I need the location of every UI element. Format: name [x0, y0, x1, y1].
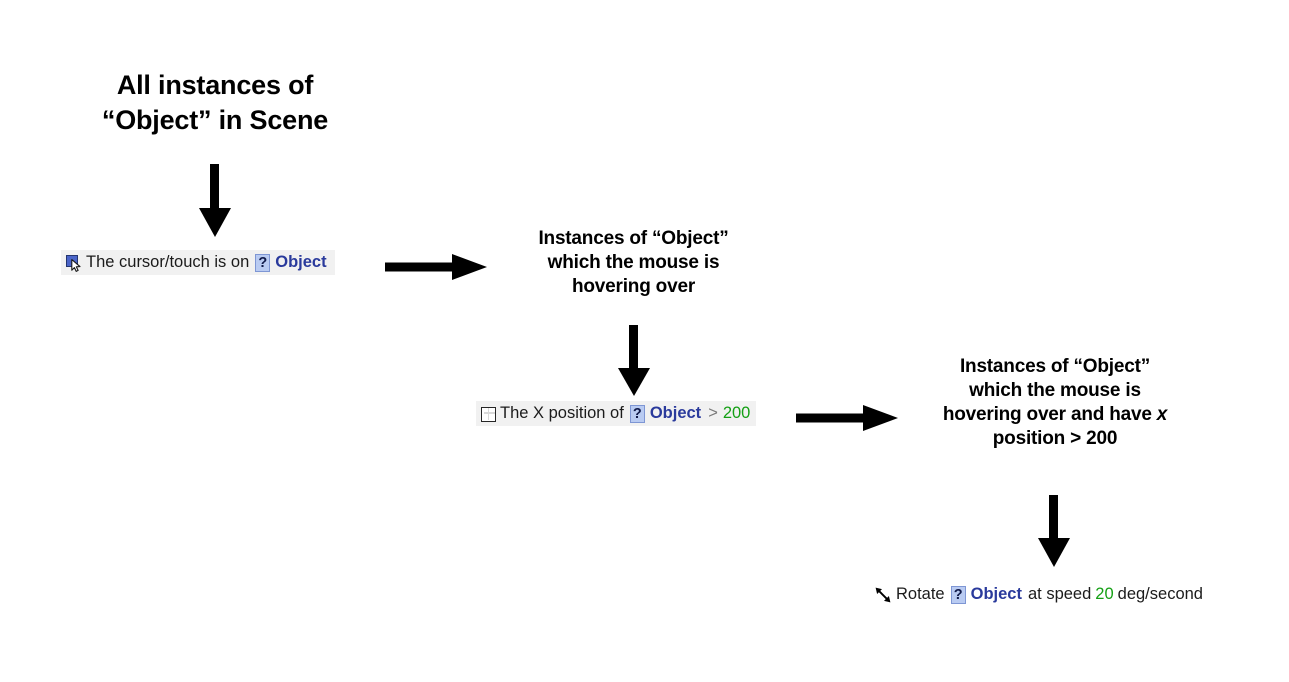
param-badge-question-2: ?: [630, 405, 645, 423]
annotation-line-1: Instances of “Object”: [960, 356, 1150, 377]
param-name-object-2: Object: [650, 404, 701, 423]
annotation-hovered-and-x-instances: Instances of “Object” which the mouse is…: [930, 355, 1180, 451]
annotation-hovered-instances: Instances of “Object” which the mouse is…: [513, 227, 754, 299]
arrow-hovered-label-to-x-block: [605, 325, 663, 397]
block-text-x-position: The X position of: [500, 404, 624, 423]
block-cursor-touch-is-on[interactable]: The cursor/touch is on ? Object: [61, 250, 335, 275]
block-text-cursor-touch: The cursor/touch is on: [86, 253, 249, 272]
param-token-object-2[interactable]: ? Object: [630, 404, 701, 423]
cursor-on-object-icon: [66, 254, 83, 271]
block-x-position[interactable]: The X position of ? Object > 200: [476, 401, 756, 426]
annotation-all-instances: All instances of “Object” in Scene: [55, 68, 375, 137]
param-name-object-1: Object: [275, 253, 326, 272]
param-token-object-3[interactable]: ? Object: [951, 585, 1022, 604]
block-rotate[interactable]: Rotate ? Object at speed 20 deg/second: [869, 582, 1209, 607]
arrow-title-to-cursor-block: [186, 164, 244, 238]
param-token-object-1[interactable]: ? Object: [255, 253, 326, 272]
block-text-rotate: Rotate: [896, 585, 945, 604]
block-text-deg-second: deg/second: [1118, 585, 1203, 604]
param-badge-question-3: ?: [951, 586, 966, 604]
annotation-line-4: position > 200: [993, 428, 1117, 449]
rotate-speed-value[interactable]: 20: [1095, 585, 1113, 604]
annotation-line-3-text: hovering over and have: [943, 404, 1157, 425]
arrow-filtered-label-to-rotate-block: [1025, 495, 1083, 568]
param-name-object-3: Object: [971, 585, 1022, 604]
annotation-line-2: which the mouse is: [969, 380, 1141, 401]
block-text-at-speed: at speed: [1028, 585, 1091, 604]
param-badge-question-1: ?: [255, 254, 270, 272]
diagram-canvas: All instances of “Object” in Scene The c…: [0, 0, 1289, 682]
annotation-line-3-italic-x: x: [1157, 404, 1167, 425]
rotate-diagonal-arrow-icon: [874, 586, 892, 604]
arrow-cursor-block-to-hovered-label: [385, 250, 489, 284]
arrow-x-block-to-filtered-label: [796, 401, 900, 435]
comparison-value[interactable]: 200: [723, 404, 751, 423]
position-crosshair-icon: [481, 406, 497, 422]
comparison-operator: >: [708, 404, 718, 423]
